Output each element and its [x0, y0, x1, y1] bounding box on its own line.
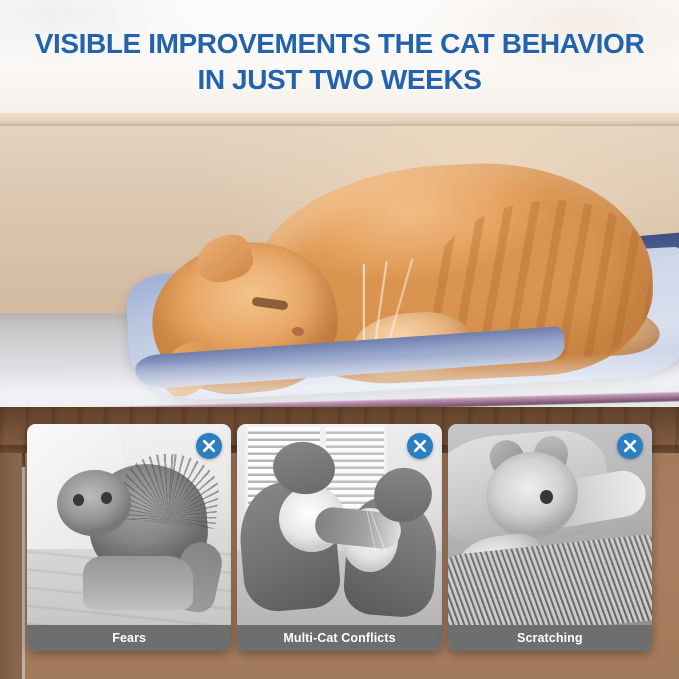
- photo3-cat-eye: [540, 490, 553, 504]
- photo1-kitten-eye-left: [73, 494, 84, 506]
- card-label-multi-cat-conflicts: Multi-Cat Conflicts: [237, 625, 441, 651]
- page-title: VISIBLE IMPROVEMENTS THE CAT BEHAVIOR IN…: [0, 26, 679, 98]
- card-label-scratching: Scratching: [448, 625, 652, 651]
- close-x-icon[interactable]: [617, 433, 643, 459]
- close-x-icon[interactable]: [196, 433, 222, 459]
- behavior-card-fears[interactable]: Fears: [27, 424, 231, 651]
- behavior-cards-row: Fears: [27, 424, 652, 651]
- headline-line-1: VISIBLE IMPROVEMENTS THE CAT BEHAVIOR: [35, 28, 645, 59]
- wall-trim: [0, 113, 679, 126]
- promo-image: VISIBLE IMPROVEMENTS THE CAT BEHAVIOR IN…: [0, 0, 679, 679]
- headline-line-2: IN JUST TWO WEEKS: [0, 62, 679, 98]
- photo2-cat-right-whiskers: [348, 510, 404, 554]
- behavior-card-scratching[interactable]: Scratching: [448, 424, 652, 651]
- cabinet-seam: [22, 453, 25, 679]
- card-label-fears: Fears: [27, 625, 231, 651]
- cabinet-left-panel: [0, 453, 22, 679]
- photo1-kitten-eye-right: [101, 492, 112, 504]
- behavior-card-multi-cat-conflicts[interactable]: Multi-Cat Conflicts: [237, 424, 441, 651]
- photo1-kitten-legs: [83, 556, 193, 610]
- close-x-icon[interactable]: [407, 433, 433, 459]
